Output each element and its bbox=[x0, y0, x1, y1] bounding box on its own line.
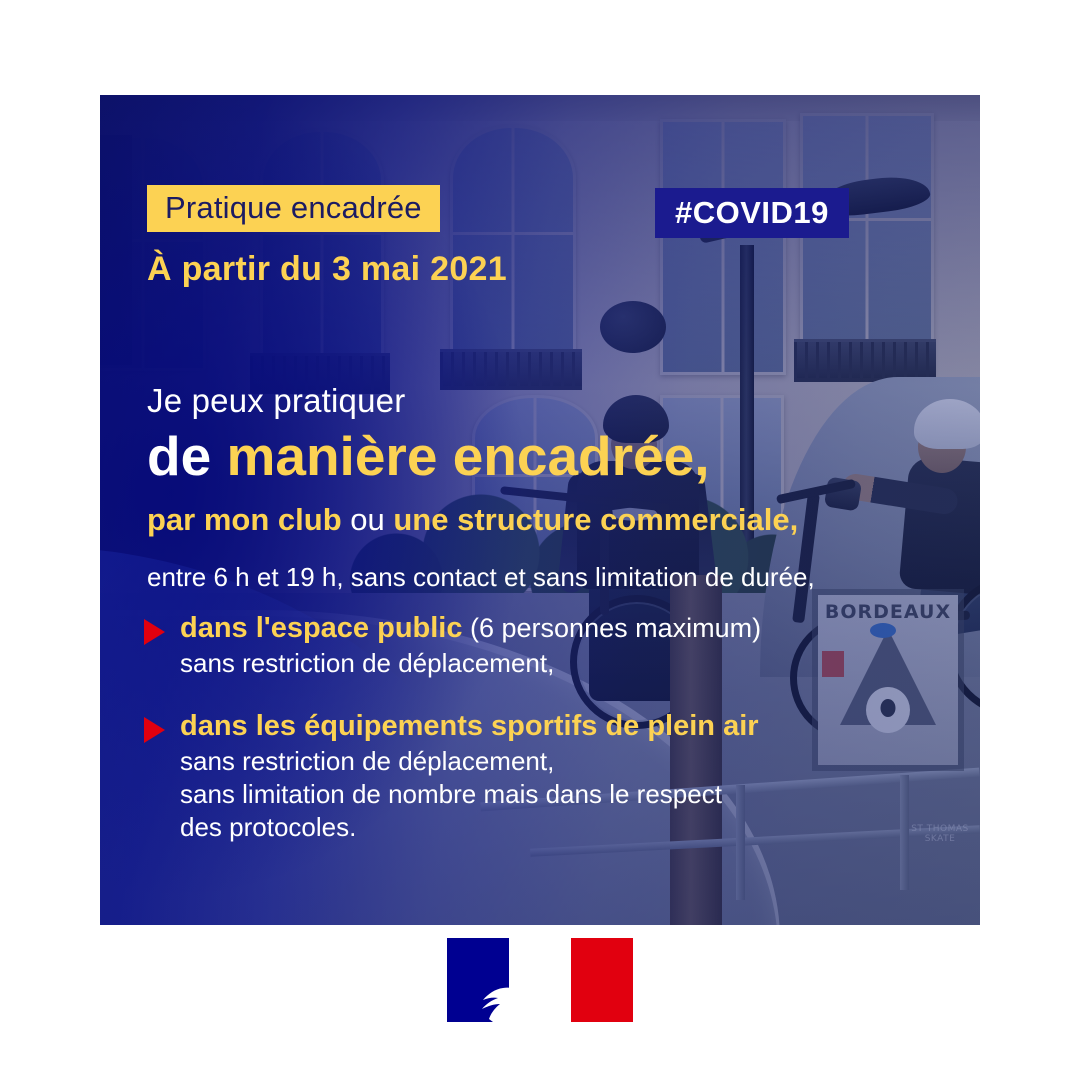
bullet-heading-yellow: dans les équipements sportifs de plein a… bbox=[180, 710, 759, 742]
list-item: dans l'espace public (6 personnes maximu… bbox=[140, 610, 970, 680]
subline-structure: une structure commerciale bbox=[393, 502, 789, 537]
headline-comma: , bbox=[694, 425, 709, 487]
marianne-logo bbox=[447, 938, 633, 1022]
page-margin-top bbox=[0, 0, 1080, 95]
bullet-heading-yellow: dans l'espace public bbox=[180, 612, 463, 644]
lead-text: Je peux pratiquer bbox=[147, 382, 405, 420]
bullet-list: dans l'espace public (6 personnes maximu… bbox=[140, 610, 970, 850]
page-margin-left bbox=[0, 0, 100, 1080]
bullet-subtext-line: sans restriction de déplacement, bbox=[180, 647, 970, 680]
subline-comma: , bbox=[790, 502, 799, 537]
bullet-heading: dans les équipements sportifs de plein a… bbox=[180, 708, 970, 744]
list-item: dans les équipements sportifs de plein a… bbox=[140, 708, 970, 844]
headline: de manière encadrée, bbox=[147, 428, 710, 486]
headline-yellow: manière encadrée bbox=[226, 425, 694, 487]
covid-sport-poster: BORDEAUX ST THOMAS SKATE Pratique encadr… bbox=[0, 0, 1080, 1080]
bullet-heading-note: (6 personnes maximum) bbox=[463, 613, 762, 643]
bullet-heading: dans l'espace public (6 personnes maximu… bbox=[180, 610, 970, 646]
triangle-bullet-icon bbox=[144, 619, 165, 645]
subline: par mon club ou une structure commercial… bbox=[147, 502, 798, 538]
bullet-subtext-line: sans restriction de déplacement, bbox=[180, 745, 970, 778]
bullet-subtext-line: sans limitation de nombre mais dans le r… bbox=[180, 778, 970, 811]
headline-white: de bbox=[147, 425, 226, 487]
effective-date: À partir du 3 mai 2021 bbox=[147, 250, 507, 289]
covid19-badge: #COVID19 bbox=[655, 188, 849, 238]
triangle-bullet-icon bbox=[144, 717, 165, 743]
poster-content: Pratique encadrée #COVID19 À partir du 3… bbox=[100, 95, 980, 925]
practice-tag: Pratique encadrée bbox=[147, 185, 440, 232]
bullet-subtext: sans restriction de déplacement, sans li… bbox=[180, 745, 970, 843]
hours-text: entre 6 h et 19 h, sans contact et sans … bbox=[147, 562, 815, 593]
subline-or: ou bbox=[342, 502, 394, 537]
marianne-profile-icon bbox=[447, 938, 633, 1022]
subline-club: par mon club bbox=[147, 502, 342, 537]
bullet-subtext-line: des protocoles. bbox=[180, 811, 970, 844]
background-photo: BORDEAUX ST THOMAS SKATE Pratique encadr… bbox=[100, 95, 980, 925]
spacer bbox=[140, 686, 970, 708]
bullet-subtext: sans restriction de déplacement, bbox=[180, 647, 970, 680]
page-margin-right bbox=[980, 0, 1080, 1080]
